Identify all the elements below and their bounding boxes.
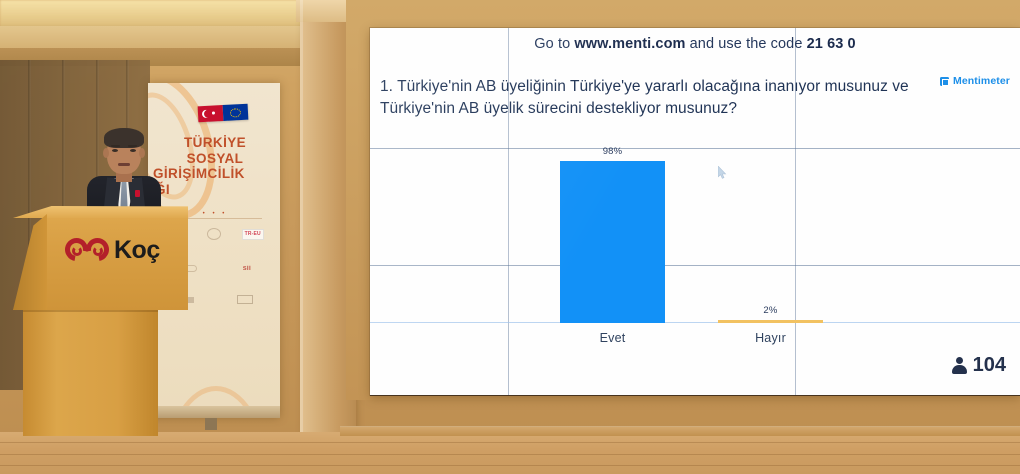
poll-results-chart: 98% Evet 2% Hayır [370, 28, 1020, 395]
person-icon [952, 357, 967, 374]
presentation-screen[interactable]: Go to www.menti.com and use the code 21 … [370, 28, 1020, 395]
podium-side-panel [13, 214, 47, 310]
banner-title-line-3: GİRİŞİMCİLİK [151, 166, 279, 182]
bar-category-label-hayir: Hayır [718, 331, 823, 345]
ear-left [103, 148, 109, 158]
bar-evet: 98% [560, 161, 665, 323]
banner-title-line-4: ĞI [151, 182, 279, 198]
banner-flags [198, 104, 249, 123]
podium: Koç [13, 206, 188, 436]
banner-title-line-1: TÜRKİYE [151, 135, 279, 151]
banner-title-line-2: SOSYAL [151, 151, 279, 167]
bar-category-label-evet: Evet [560, 331, 665, 345]
eu-flag-icon [223, 104, 249, 121]
pillar-edge-highlight [300, 0, 303, 474]
eye-left [112, 149, 118, 152]
podium-column [23, 306, 158, 436]
speaker-hair [104, 128, 144, 148]
sponsor-logo [237, 295, 253, 304]
participant-counter: 104 [952, 354, 1006, 377]
eye-right [130, 149, 136, 152]
flag-lapel-pin [135, 190, 140, 197]
bar-hayir: 2% [718, 320, 823, 323]
podium-top-edge [13, 206, 188, 218]
koc-logo-text: Koç [114, 238, 160, 263]
banner-title: TÜRKİYE SOSYAL GİRİŞİMCİLİK ĞI [151, 135, 279, 197]
turkey-flag-icon [198, 105, 224, 122]
chart-baseline [370, 322, 1020, 324]
mouse-cursor [718, 166, 727, 179]
sponsor-logo: sii [243, 263, 251, 274]
sponsor-logo [207, 228, 221, 240]
participant-count: 104 [973, 354, 1006, 377]
koc-ram-horn-icon [65, 236, 111, 264]
koc-logo: Koç [65, 230, 161, 270]
eyebrow-right [128, 145, 137, 147]
bar-value-label-hayir: 2% [718, 305, 823, 316]
eyebrow-left [111, 145, 120, 147]
conference-room-scene: TÜRKİYE SOSYAL GİRİŞİMCİLİK ĞI • • • KOS… [0, 0, 1020, 474]
banner-dots: • • • [182, 211, 248, 217]
floor [0, 432, 1020, 474]
banner-stand-leg [205, 418, 217, 430]
wall-baseboard [340, 426, 1020, 436]
ear-right [139, 148, 145, 158]
mouth [118, 163, 130, 166]
bar-value-label-evet: 98% [560, 146, 665, 157]
sponsor-logo: TR-EU [242, 229, 264, 240]
